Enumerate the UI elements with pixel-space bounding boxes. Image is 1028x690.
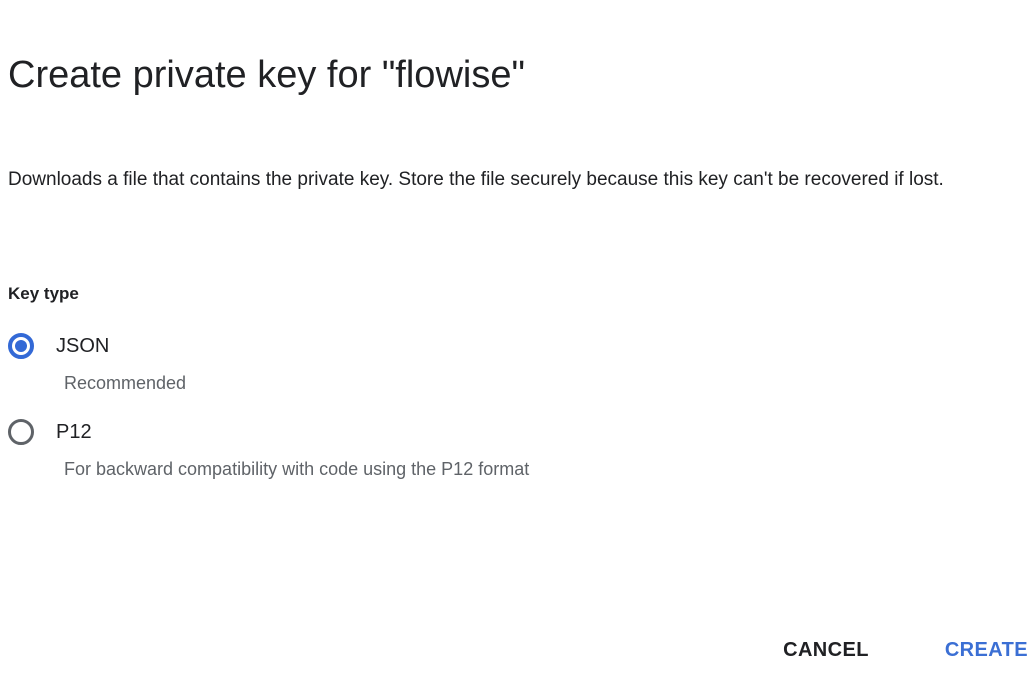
radio-help-p12: For backward compatibility with code usi… — [8, 452, 908, 486]
dialog-actions: CANCEL CREATE — [775, 632, 1028, 668]
dialog-description: Downloads a file that contains the priva… — [8, 160, 998, 199]
radio-option-p12[interactable]: P12 — [8, 412, 908, 452]
radio-unselected-icon[interactable] — [8, 412, 44, 452]
radio-option-json-block: JSON Recommended — [8, 326, 908, 400]
radio-selected-icon[interactable] — [8, 326, 44, 366]
radio-label-p12[interactable]: P12 — [44, 412, 92, 452]
key-type-radio-group: JSON Recommended P12 For backward compat… — [8, 326, 908, 498]
cancel-button[interactable]: CANCEL — [775, 632, 877, 668]
radio-help-json: Recommended — [8, 366, 908, 400]
radio-label-json[interactable]: JSON — [44, 326, 109, 366]
radio-option-json[interactable]: JSON — [8, 326, 908, 366]
page-title: Create private key for "flowise" — [8, 50, 525, 100]
radio-option-p12-block: P12 For backward compatibility with code… — [8, 412, 908, 486]
create-button[interactable]: CREATE — [937, 632, 1028, 668]
key-type-label: Key type — [8, 282, 79, 306]
create-private-key-dialog: Create private key for "flowise" Downloa… — [0, 0, 1028, 690]
